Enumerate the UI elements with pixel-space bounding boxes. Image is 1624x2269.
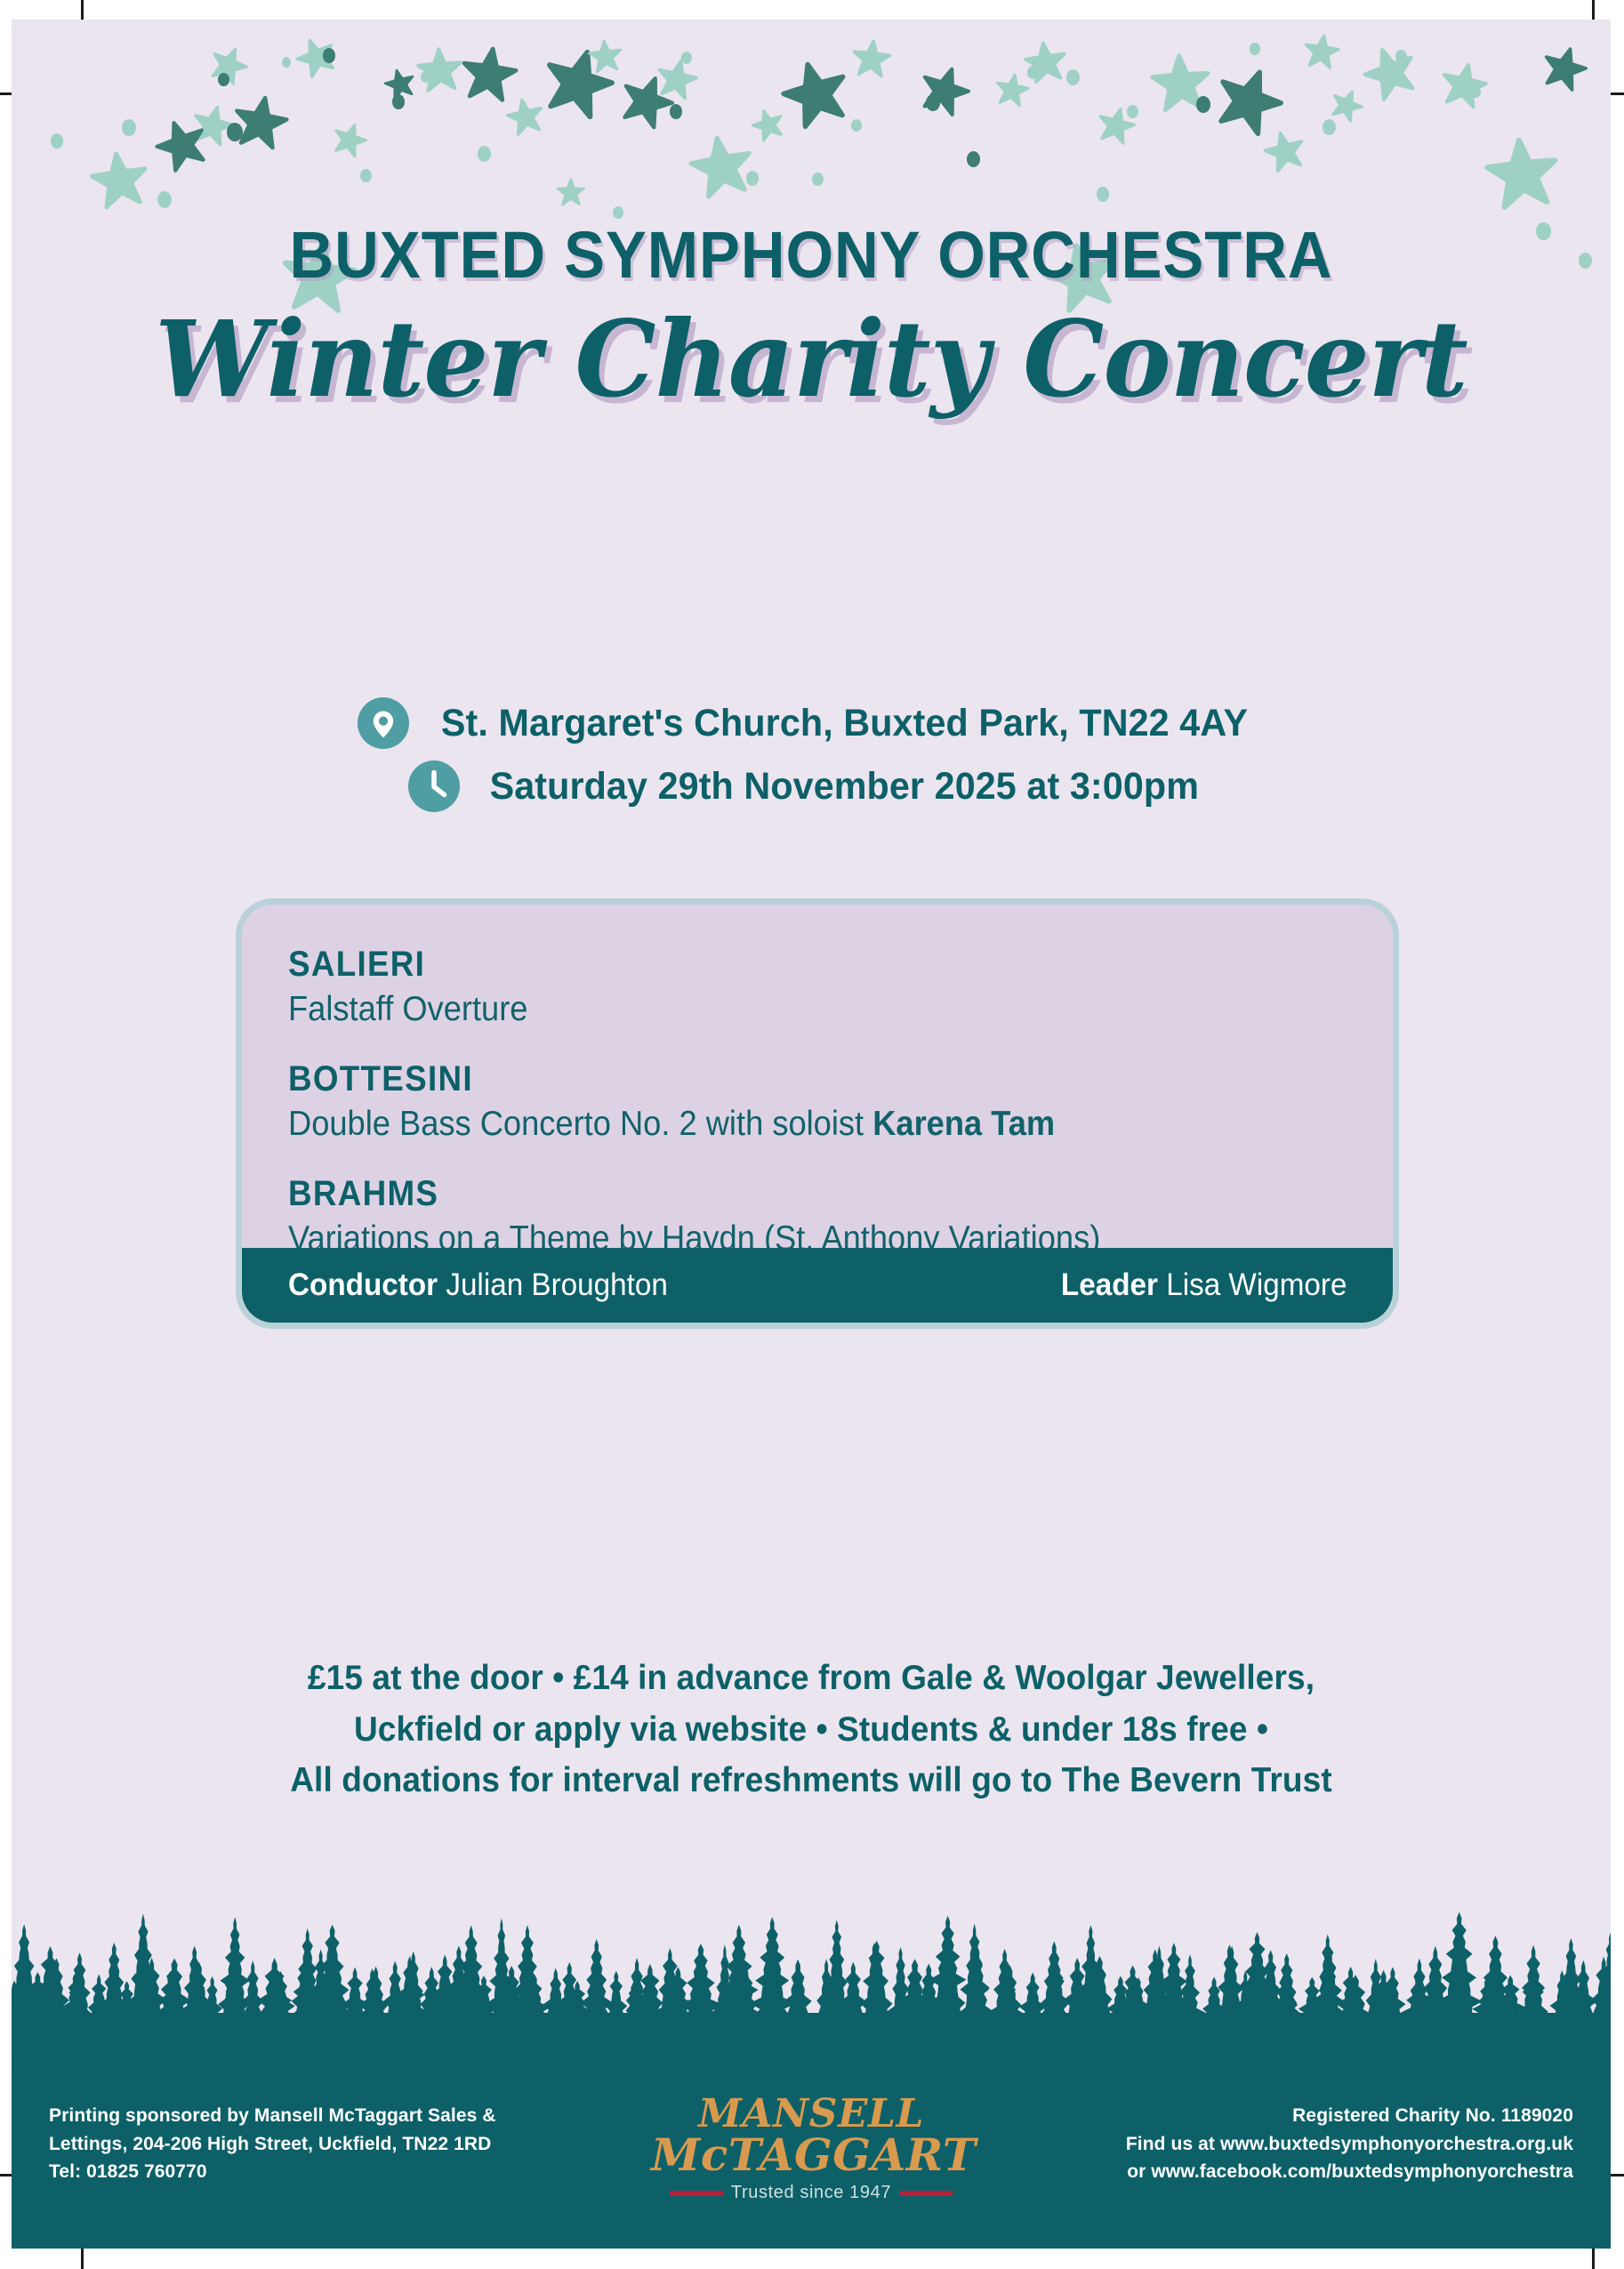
dot-shape [746, 171, 759, 186]
location-pin-icon [358, 697, 409, 749]
soloist-name: Karena Tam [872, 1105, 1055, 1143]
ticket-line-2: Uckfield or apply via website • Students… [52, 1704, 1571, 1756]
star-shape [1481, 133, 1565, 218]
star-shape [747, 104, 790, 147]
star-shape [1021, 38, 1071, 88]
conductor-label: Conductor [288, 1267, 438, 1302]
dot-shape [1127, 105, 1138, 118]
star-shape [1300, 31, 1342, 73]
facebook-line: or www.facebook.com/buxtedsymphonyorches… [1126, 2158, 1573, 2186]
logo-dash-right [899, 2191, 953, 2196]
charity-contact: Registered Charity No. 1189020 Find us a… [1126, 2102, 1573, 2186]
dot-shape [670, 104, 682, 119]
conductor-credit: Conductor Julian Broughton [288, 1267, 668, 1303]
star-shape [290, 31, 343, 84]
dot-shape [1470, 85, 1481, 98]
logo-tagline-text: Trusted since 1947 [723, 2183, 899, 2203]
star-shape [1259, 126, 1311, 178]
website-line: Find us at www.buxtedsymphonyorchestra.o… [1126, 2130, 1573, 2159]
star-shape [149, 112, 217, 181]
venue-row: St. Margaret's Church, Buxted Park, TN22… [12, 697, 1611, 749]
poster-headline: BUXTED SYMPHONY ORCHESTRA Winter Charity… [12, 222, 1611, 414]
dot-shape [1250, 43, 1260, 55]
dot-shape [392, 94, 405, 109]
logo-dash-left [670, 2191, 723, 2196]
star-shape [652, 55, 703, 106]
venue-text: St. Margaret's Church, Buxted Park, TN22… [441, 702, 1248, 745]
star-shape [586, 37, 625, 76]
star-shape [556, 178, 586, 208]
star-shape [502, 94, 549, 141]
pine-treeline-decoration [12, 1872, 1611, 2077]
composer-name: SALIERI [288, 944, 1305, 985]
dot-shape [323, 48, 335, 63]
programme-card: SALIERI Falstaff Overture BOTTESINI Doub… [236, 898, 1399, 1329]
star-shape [1536, 41, 1593, 98]
datetime-text: Saturday 29th November 2025 at 3:00pm [490, 765, 1199, 809]
charity-number: Registered Charity No. 1189020 [1126, 2102, 1573, 2130]
programme-item: BOTTESINI Double Bass Concerto No. 2 wit… [288, 1058, 1393, 1147]
dot-shape [926, 94, 940, 111]
dot-shape [360, 169, 372, 182]
leader-name: Lisa Wigmore [1158, 1267, 1347, 1302]
composer-name: BRAHMS [288, 1173, 1305, 1214]
dot-shape [157, 191, 172, 208]
poster-footer: Printing sponsored by Mansell McTaggart … [12, 2075, 1611, 2249]
star-shape [1355, 38, 1426, 109]
star-shape [327, 118, 372, 163]
datetime-row: Saturday 29th November 2025 at 3:00pm [12, 760, 1611, 812]
star-shape [992, 70, 1033, 111]
dot-shape [681, 52, 692, 64]
programme-item: SALIERI Falstaff Overture [288, 944, 1393, 1032]
ticket-information: £15 at the door • £14 in advance from Ga… [12, 1653, 1611, 1806]
star-shape [86, 148, 155, 216]
star-shape [1092, 102, 1139, 149]
star-shape [414, 45, 466, 97]
dot-shape [1066, 69, 1080, 85]
ticket-line-3: All donations for interval refreshments … [52, 1755, 1571, 1806]
dot-shape [967, 151, 980, 167]
logo-tagline: Trusted since 1947 [651, 2183, 971, 2203]
star-shape [1324, 84, 1368, 127]
sponsor-address-line-2: Lettings, 204-206 High Street, Uckfield,… [49, 2130, 496, 2159]
leader-credit: Leader Lisa Wigmore [1060, 1267, 1347, 1303]
star-shape [228, 91, 293, 157]
star-shape [1435, 58, 1492, 115]
ticket-line-1: £15 at the door • £14 in advance from Ga… [52, 1653, 1571, 1704]
dot-shape [421, 71, 430, 83]
star-shape [912, 59, 977, 124]
work-title-text: Double Bass Concerto No. 2 with soloist [288, 1105, 872, 1143]
credits-bar: Conductor Julian Broughton Leader Lisa W… [242, 1248, 1393, 1323]
star-shape [774, 52, 859, 138]
star-shape [381, 65, 420, 104]
star-shape [203, 40, 253, 91]
star-shape [187, 101, 238, 152]
star-shape [456, 43, 523, 109]
star-shape [611, 67, 681, 137]
dot-shape [1097, 187, 1109, 202]
event-details: St. Margaret's Church, Buxted Park, TN22… [12, 697, 1611, 824]
orchestra-name: BUXTED SYMPHONY ORCHESTRA [68, 222, 1555, 288]
leader-label: Leader [1060, 1267, 1157, 1302]
treeline-svg [12, 1872, 1611, 2077]
page-title: Winter Charity Concert [36, 304, 1587, 414]
dot-shape [218, 73, 229, 86]
concert-poster: BUXTED SYMPHONY ORCHESTRA Winter Charity… [12, 20, 1611, 2249]
star-shape [684, 130, 760, 206]
clock-icon [408, 760, 460, 812]
mansell-mctaggart-logo: MANSELL McTAGGART Trusted since 1947 [651, 2095, 971, 2203]
dot-shape [812, 173, 824, 186]
dot-shape [478, 146, 491, 162]
dot-shape [227, 123, 243, 141]
sponsor-address: Printing sponsored by Mansell McTaggart … [49, 2102, 496, 2186]
dot-shape [122, 119, 136, 136]
sponsor-address-line-1: Printing sponsored by Mansell McTaggart … [49, 2102, 496, 2130]
star-shape [1148, 52, 1215, 118]
work-title: Falstaff Overture [288, 988, 1315, 1032]
dot-shape [1196, 96, 1210, 113]
logo-line-1: MANSELL [651, 2095, 971, 2133]
logo-line-2: McTAGGART [651, 2133, 971, 2176]
work-title: Double Bass Concerto No. 2 with soloist … [288, 1103, 1315, 1147]
composer-name: BOTTESINI [288, 1058, 1305, 1099]
dot-shape [1027, 66, 1039, 79]
dot-shape [851, 119, 862, 132]
star-shape [849, 37, 895, 83]
dot-shape [282, 57, 291, 68]
conductor-name: Julian Broughton [438, 1267, 668, 1302]
dot-shape [1323, 119, 1336, 135]
star-shape [533, 39, 623, 129]
sponsor-address-line-3: Tel: 01825 760770 [49, 2158, 496, 2186]
dot-shape [1395, 50, 1407, 63]
dot-shape [51, 133, 63, 149]
star-shape [1204, 58, 1293, 147]
